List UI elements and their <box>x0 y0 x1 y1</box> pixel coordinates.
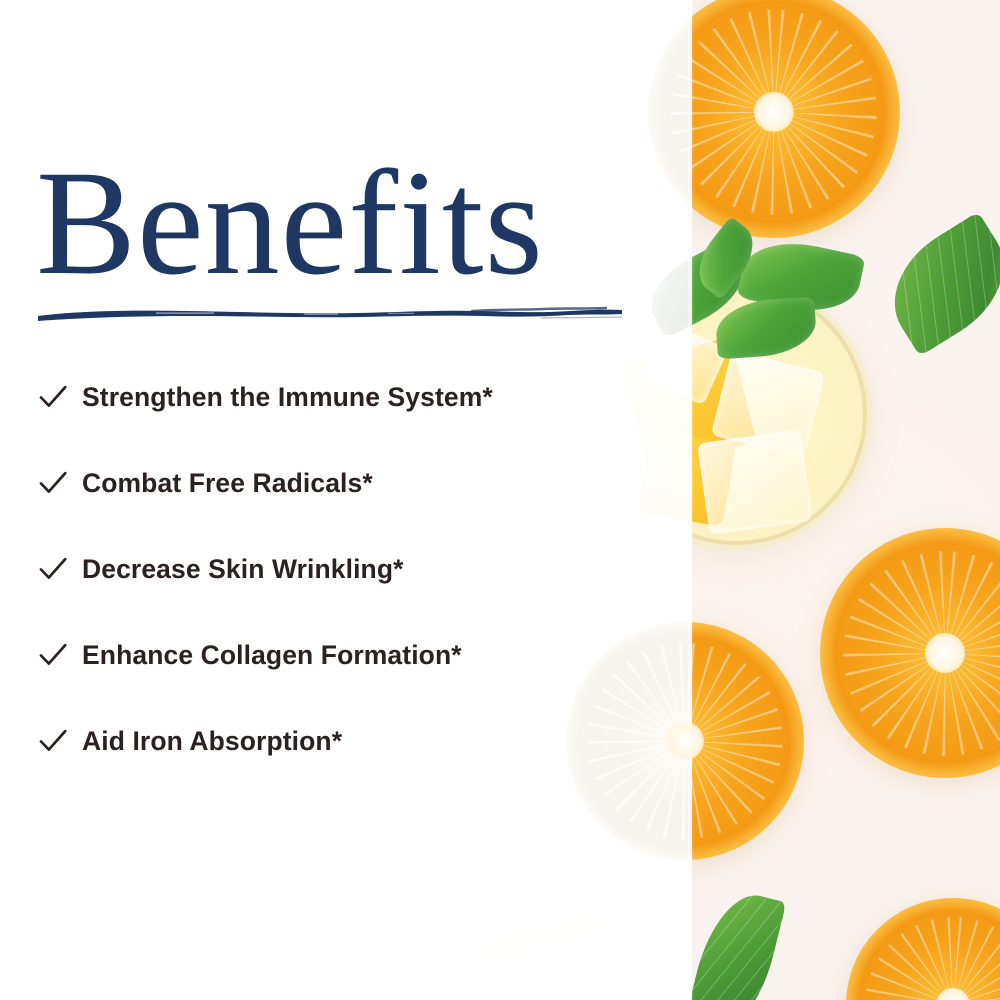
content-layer: Benefits Strengthen the Immune System* <box>0 0 1000 1000</box>
benefits-poster: Benefits Strengthen the Immune System* <box>0 0 1000 1000</box>
benefit-label: Combat Free Radicals* <box>82 468 373 499</box>
benefit-item-collagen: Enhance Collagen Formation* <box>0 624 660 686</box>
title-underline-brushstroke <box>36 300 626 326</box>
checkmark-icon <box>38 726 68 756</box>
benefits-list: Strengthen the Immune System* Combat Fre… <box>0 366 660 796</box>
benefit-item-skin-wrinkling: Decrease Skin Wrinkling* <box>0 538 660 600</box>
checkmark-icon <box>38 640 68 670</box>
benefit-label: Aid Iron Absorption* <box>82 726 342 757</box>
checkmark-icon <box>38 382 68 412</box>
checkmark-icon <box>38 554 68 584</box>
benefit-item-immune: Strengthen the Immune System* <box>0 366 660 428</box>
benefit-label: Enhance Collagen Formation* <box>82 640 462 671</box>
benefit-item-free-radicals: Combat Free Radicals* <box>0 452 660 514</box>
checkmark-icon <box>38 468 68 498</box>
benefit-label: Decrease Skin Wrinkling* <box>82 554 404 585</box>
page-title: Benefits <box>36 148 544 298</box>
benefit-item-iron-absorption: Aid Iron Absorption* <box>0 710 660 772</box>
benefit-label: Strengthen the Immune System* <box>82 382 493 413</box>
